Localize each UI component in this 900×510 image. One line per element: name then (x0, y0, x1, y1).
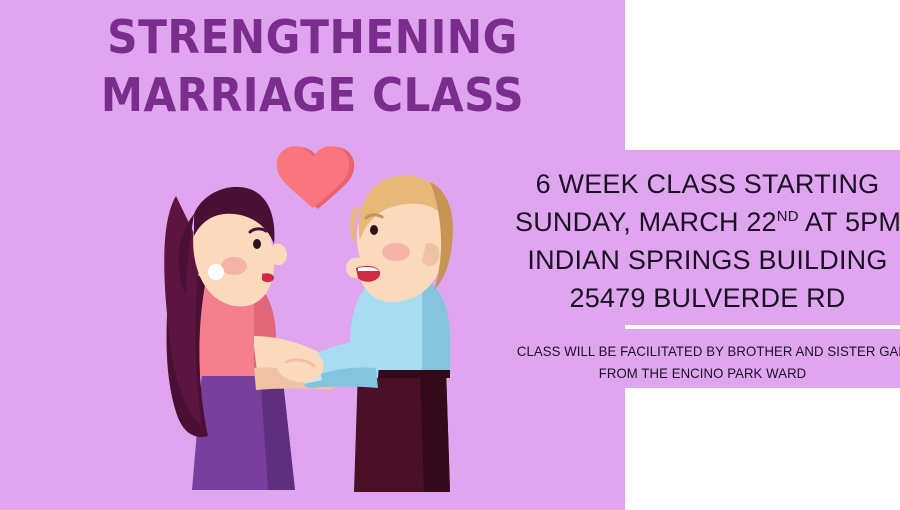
page-title: STRENGTHENING MARRIAGE CLASS (25, 8, 600, 124)
facilitator-note: CLASS WILL BE FACILITATED BY BROTHER AND… (517, 340, 888, 384)
poster-canvas: STRENGTHENING MARRIAGE CLASS (0, 0, 900, 510)
woman-eye (253, 239, 261, 249)
facilitator-line-2: FROM THE ENCINO PARK WARD (517, 362, 888, 384)
couple-illustration-svg (150, 140, 480, 510)
detail-line-starting: 6 WEEK CLASS STARTING (515, 165, 900, 203)
class-details: 6 WEEK CLASS STARTING SUNDAY, MARCH 22ND… (515, 165, 900, 317)
heart-icon (277, 146, 355, 209)
detail-line-address: 25479 BULVERDE RD (515, 279, 900, 317)
detail-date-superscript: ND (777, 209, 799, 225)
couple-holding-hands-illustration (150, 140, 480, 510)
facilitator-line-1: CLASS WILL BE FACILITATED BY BROTHER AND… (517, 340, 888, 362)
woman-earring (208, 264, 224, 280)
woman-blush (221, 257, 247, 275)
man-blush (382, 243, 410, 261)
man-eye (370, 225, 378, 235)
section-divider (625, 325, 900, 329)
woman-figure (164, 187, 343, 490)
detail-line-date: SUNDAY, MARCH 22ND AT 5PM (515, 203, 900, 241)
man-figure (276, 176, 453, 492)
detail-date-suffix: AT 5PM (799, 207, 900, 237)
detail-line-venue: INDIAN SPRINGS BUILDING (515, 241, 900, 279)
detail-date-prefix: SUNDAY, MARCH 22 (515, 207, 777, 237)
